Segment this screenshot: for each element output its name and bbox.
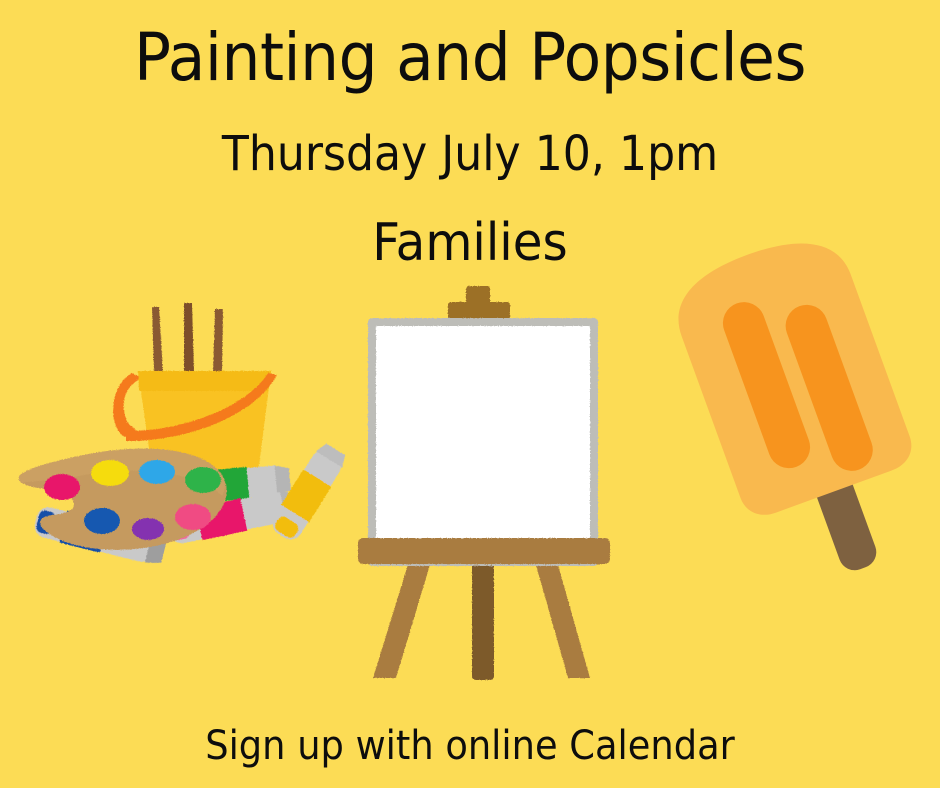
paint-brushes-icon — [152, 303, 223, 373]
poster-canvas: Painting and Popsicles Thursday July 10,… — [0, 0, 940, 788]
bucket-handle-icon — [113, 373, 142, 438]
easel-legs — [373, 558, 590, 680]
event-audience: Families — [33, 212, 907, 274]
popsicle-illustration — [665, 240, 930, 585]
page-title: Painting and Popsicles — [33, 22, 907, 94]
art-supplies-illustration — [0, 295, 350, 580]
easel-tray-bar — [358, 538, 610, 564]
signup-instruction: Sign up with online Calendar — [38, 722, 903, 770]
easel-illustration — [350, 270, 620, 680]
event-datetime: Thursday July 10, 1pm — [38, 126, 903, 182]
easel-canvas — [368, 318, 598, 566]
popsicle-group — [663, 224, 940, 599]
